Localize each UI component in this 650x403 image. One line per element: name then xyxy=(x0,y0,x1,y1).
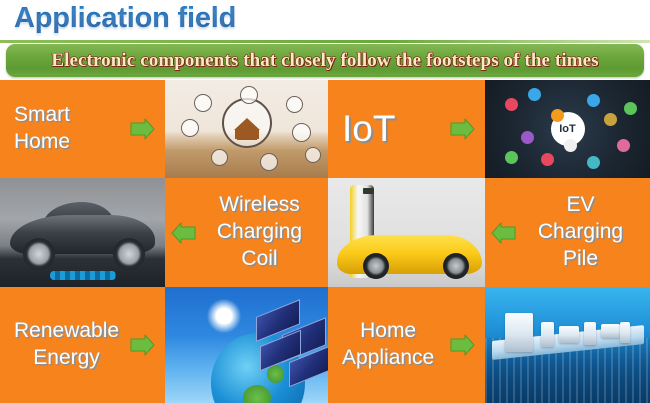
appliance-item xyxy=(620,322,630,343)
image-cell-home-appliances-city-photo xyxy=(485,287,650,403)
image-cell-grey-sports-car-photo xyxy=(0,178,165,287)
appliance-item xyxy=(584,322,596,345)
category-label: IoT xyxy=(342,110,395,149)
banner: Electronic components that closely follo… xyxy=(6,44,644,77)
category-cell-iot[interactable]: IoT xyxy=(328,80,485,178)
appliance-item xyxy=(505,313,533,352)
image-cell-solar-panel-globe-photo xyxy=(165,287,328,403)
arrow-right-icon xyxy=(449,334,475,356)
image-cell-iot-network-diagram: IoT xyxy=(485,80,650,178)
appliance-item xyxy=(559,326,579,342)
appliance-item xyxy=(541,322,554,348)
arrow-left-icon xyxy=(171,222,197,244)
category-cell-home-appliance[interactable]: Home Appliance xyxy=(328,287,485,403)
solar-panel-globe-photo xyxy=(165,287,328,403)
smart-home-room-photo xyxy=(165,80,328,178)
category-cell-smart-home[interactable]: Smart Home xyxy=(0,80,165,178)
category-label: Home Appliance xyxy=(342,318,434,372)
category-label: Wireless Charging Coil xyxy=(197,192,322,273)
arrow-right-icon xyxy=(129,334,155,356)
title-underline-divider xyxy=(0,40,650,43)
application-field-grid: Smart HomeIoTIoTWireless Charging CoilEV… xyxy=(0,80,650,403)
category-label: EV Charging Pile xyxy=(517,192,644,273)
category-cell-wireless-charging-coil[interactable]: Wireless Charging Coil xyxy=(165,178,328,287)
arrow-left-icon xyxy=(491,222,517,244)
page-title: Application field xyxy=(14,2,236,35)
iot-network-diagram: IoT xyxy=(485,80,650,178)
category-cell-ev-charging-pile[interactable]: EV Charging Pile xyxy=(485,178,650,287)
category-label: Renewable Energy xyxy=(14,318,119,372)
image-cell-yellow-car-charging-pile-photo xyxy=(328,178,485,287)
home-appliances-city-photo xyxy=(485,287,650,403)
category-cell-renewable-energy[interactable]: Renewable Energy xyxy=(0,287,165,403)
arrow-right-icon xyxy=(449,118,475,140)
category-label: Smart Home xyxy=(14,102,70,156)
image-cell-smart-home-room-photo xyxy=(165,80,328,178)
grey-sports-car-photo xyxy=(0,178,165,287)
yellow-car-charging-pile-photo xyxy=(328,178,485,287)
arrow-right-icon xyxy=(129,118,155,140)
appliance-item xyxy=(601,324,621,338)
banner-text: Electronic components that closely follo… xyxy=(51,50,598,72)
